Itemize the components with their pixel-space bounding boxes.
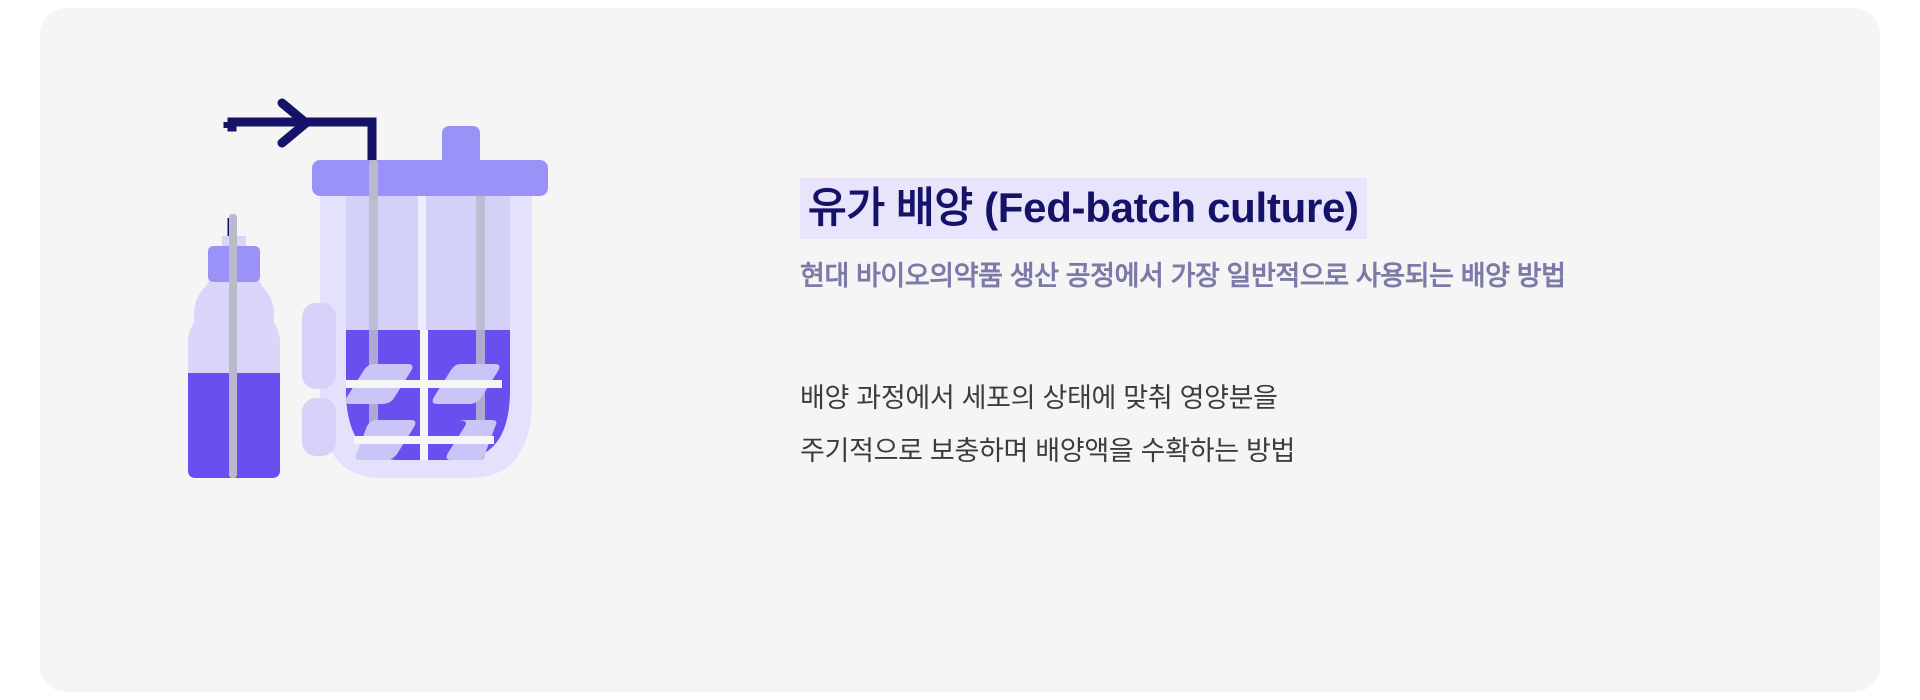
feed-bottle	[188, 214, 280, 478]
text-block: 유가 배양 (Fed-batch culture) 현대 바이오의약품 생산 공…	[800, 178, 1880, 477]
description-paragraph: 배양 과정에서 세포의 상태에 맞춰 영양분을 주기적으로 보충하며 배양액을 …	[800, 372, 1880, 477]
fed-batch-bioreactor-illustration	[170, 98, 600, 518]
bioreactor-vessel	[302, 126, 548, 478]
description-line: 배양 과정에서 세포의 상태에 맞춰 영양분을	[800, 372, 1880, 425]
side-port	[302, 303, 336, 389]
feed-inlet-tube	[369, 160, 378, 200]
description-line: 주기적으로 보충하며 배양액을 수확하는 방법	[800, 425, 1880, 478]
content-card: 유가 배양 (Fed-batch culture) 현대 바이오의약품 생산 공…	[40, 8, 1880, 692]
page-subtitle: 현대 바이오의약품 생산 공정에서 가장 일반적으로 사용되는 배양 방법	[800, 259, 1880, 294]
side-port	[302, 398, 336, 456]
bioreactor-motor	[442, 126, 480, 170]
feed-tube	[229, 214, 237, 478]
page-title-wrapper: 유가 배양 (Fed-batch culture)	[800, 178, 1880, 239]
bioreactor-lid	[312, 160, 548, 196]
page-title: 유가 배양 (Fed-batch culture)	[800, 178, 1367, 239]
